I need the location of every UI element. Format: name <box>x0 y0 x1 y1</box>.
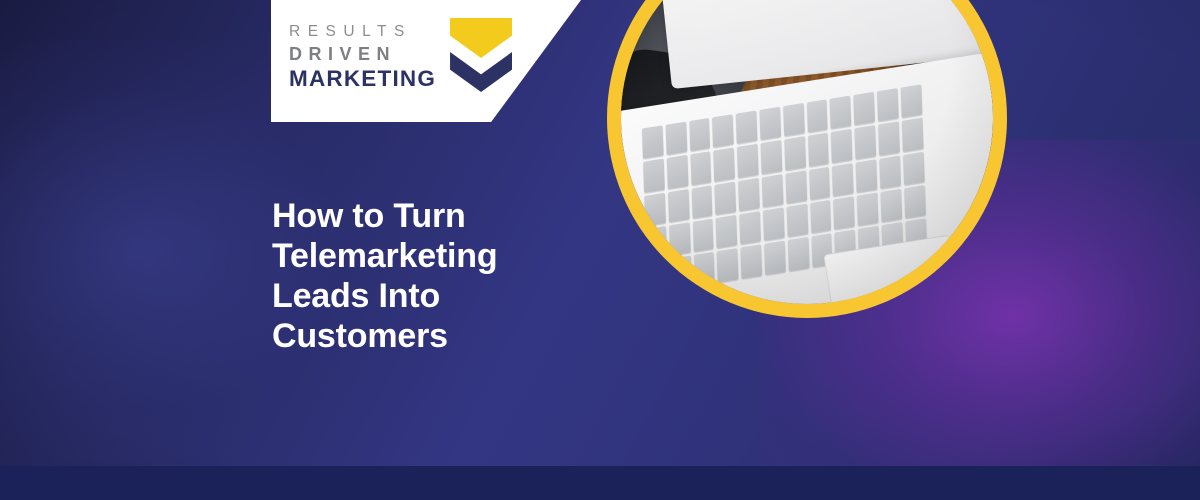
headline-line-3: Leads Into <box>272 276 602 316</box>
headline-line-4: Customers <box>272 316 602 356</box>
page-title: How to Turn Telemarketing Leads Into Cus… <box>272 196 602 356</box>
logo-line-driven: DRIVEN <box>289 45 436 63</box>
chevron-top-icon <box>450 18 512 58</box>
logo-wordmark: RESULTS DRIVEN MARKETING <box>289 24 436 90</box>
blog-header-banner: RESULTS DRIVEN MARKETING How to Turn Tel… <box>0 0 1200 500</box>
results-driven-marketing-logo[interactable]: RESULTS DRIVEN MARKETING <box>289 22 512 92</box>
double-chevron-icon <box>450 18 512 92</box>
desk-workspace-photo <box>621 0 993 304</box>
headline-line-2: Telemarketing <box>272 236 602 276</box>
photo-scene <box>621 0 993 304</box>
bottom-band <box>0 466 1200 500</box>
logo-line-marketing: MARKETING <box>289 68 436 91</box>
chevron-bottom-icon <box>450 52 512 92</box>
headline-line-1: How to Turn <box>272 196 602 236</box>
photo-shading-overlay <box>621 0 993 304</box>
photo-yellow-ring <box>607 0 1007 318</box>
logo-line-results: RESULTS <box>289 24 436 40</box>
